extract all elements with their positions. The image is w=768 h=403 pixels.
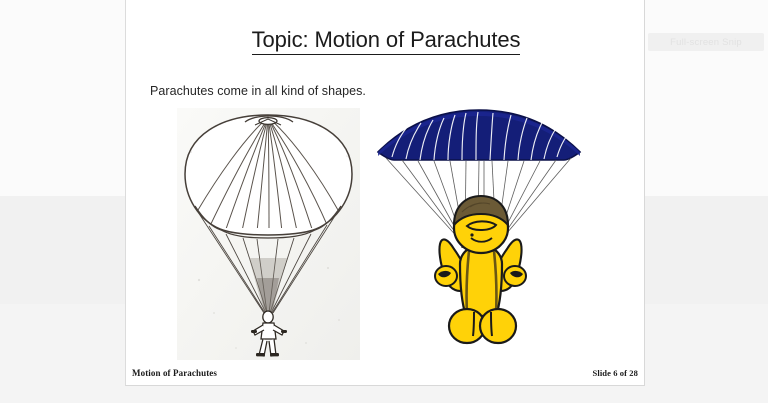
ram-air-parachute-cartoon-image bbox=[374, 108, 584, 360]
slide-title: Topic: Motion of Parachutes bbox=[126, 27, 645, 55]
footer-deck-title: Motion of Parachutes bbox=[132, 368, 217, 378]
footer-slide-number: Slide 6 of 28 bbox=[593, 368, 638, 378]
full-screen-snip-button[interactable]: Full-screen Snip bbox=[648, 33, 764, 51]
slide-subtitle: Parachutes come in all kind of shapes. bbox=[150, 84, 366, 98]
slide-image-row bbox=[126, 108, 645, 360]
slide-title-text: Topic: Motion of Parachutes bbox=[252, 27, 521, 55]
slide-footer: Motion of Parachutes Slide 6 of 28 bbox=[126, 359, 645, 385]
full-screen-snip-label: Full-screen Snip bbox=[670, 37, 742, 48]
round-parachute-sketch-image bbox=[177, 108, 360, 360]
presentation-slide[interactable]: Topic: Motion of Parachutes Parachutes c… bbox=[125, 0, 645, 386]
app-root: Full-screen Snip Topic: Motion of Parach… bbox=[0, 0, 768, 403]
